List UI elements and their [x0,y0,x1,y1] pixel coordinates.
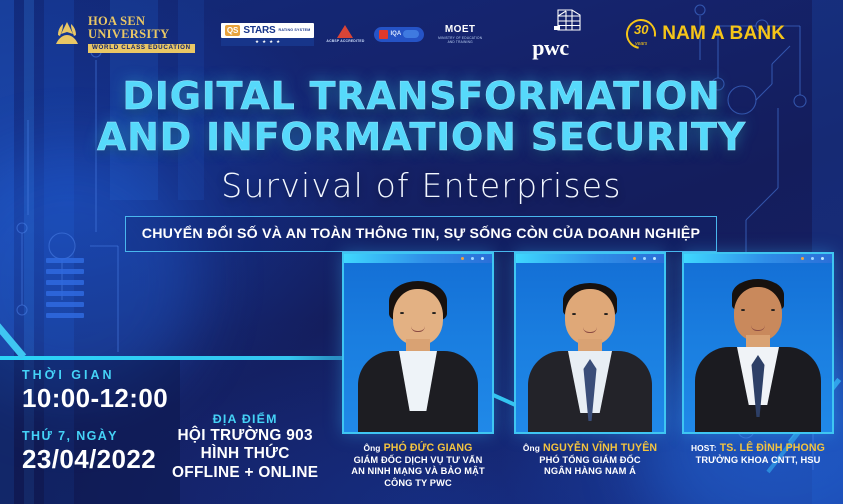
window-titlebar [516,254,664,263]
hsu-tagline: WORLD CLASS EDUCATION [88,44,195,53]
speaker-role-line: GIÁM ĐỐC DỊCH VỤ TƯ VẤN [338,455,498,466]
speaker-name-line: Ông NGUYỄN VĨNH TUYÊN [510,442,670,455]
moet-name: MOET [445,24,476,35]
headline-line-1: DIGITAL TRANSFORMATION [0,76,843,117]
speaker-caption: Ông PHÓ ĐỨC GIANG GIÁM ĐỐC DỊCH VỤ TƯ VẤ… [338,442,498,489]
logo-moet: MOET MINISTRY OF EDUCATION AND TRAINING [438,24,482,44]
speaker-portrait [684,263,832,432]
headline-line-2: AND INFORMATION SECURITY [0,117,843,158]
red-square-icon [379,30,388,39]
speaker-prefix: Ông [523,443,540,453]
speaker-name-line: Ông PHÓ ĐỨC GIANG [338,442,498,455]
window-titlebar [684,254,832,263]
speaker-name-line: HOST: TS. LÊ ĐÌNH PHONG [678,442,838,455]
window-dot-icon [481,257,484,260]
logo-acbsp: ACBSP ACCREDITED [326,25,364,43]
speaker-prefix: Ông [363,443,380,453]
speaker-name: NGUYỄN VĨNH TUYÊN [543,442,657,454]
speaker-role-line: CÔNG TY PWC [338,478,498,489]
speaker-portrait [516,263,664,432]
pwc-blocks-icon [546,9,582,36]
speaker-photo-frame [514,252,666,434]
qs-stars-row: ★ ★ ★ ★ [221,38,315,46]
anniversary-number: 30 [626,23,656,36]
star-icon: ★ [255,39,259,45]
qs-subtitle: RATING SYSTEM [279,28,311,32]
event-poster: HOA SEN UNIVERSITY WORLD CLASS EDUCATION… [0,0,843,504]
window-dot-icon [653,257,656,260]
window-dot-icon [633,257,636,260]
qs-badge: QS [225,25,241,36]
speaker-caption: Ông NGUYỄN VĨNH TUYÊN PHÓ TỔNG GIÁM ĐỐC … [510,442,670,478]
pwc-wordmark: pwc [532,37,568,59]
speaker-name: PHÓ ĐỨC GIANG [384,442,473,454]
logo-qs-stars: QS STARS RATING SYSTEM ★ ★ ★ ★ [221,23,315,46]
speaker-card: Ông NGUYỄN VĨNH TUYÊN PHÓ TỔNG GIÁM ĐỐC … [510,252,670,434]
time-value: 10:00-12:00 [22,384,168,413]
speaker-role-line: AN NINH MẠNG VÀ BẢO MẬT [338,466,498,477]
venue-block: ĐỊA ĐIỂM HỘI TRƯỜNG 903 HÌNH THỨC OFFLIN… [172,412,318,482]
pill-caption: IQA [390,31,401,37]
speaker-role-line: NGÂN HÀNG NAM Á [510,466,670,477]
triangle-icon [337,25,353,38]
logo-nam-a-bank: 30 years NAM A BANK [626,19,785,49]
logo-hoa-sen-university: HOA SEN UNIVERSITY WORLD CLASS EDUCATION [52,15,195,53]
time-label: THỜI GIAN [22,368,168,382]
speaker-card: HOST: TS. LÊ ĐÌNH PHONG TRƯỞNG KHOA CNTT… [678,252,838,434]
date-label: THỨ 7, NGÀY [22,429,168,443]
acbsp-caption: ACBSP ACCREDITED [326,39,364,43]
speaker-name: TS. LÊ ĐÌNH PHONG [720,442,825,454]
window-dot-icon [811,257,814,260]
window-dot-icon [471,257,474,260]
anniversary-unit: years [626,41,656,47]
window-titlebar [344,254,492,263]
date-value: 23/04/2022 [22,445,168,474]
anniversary-badge-icon: 30 years [626,19,656,49]
speaker-card: Ông PHÓ ĐỨC GIANG GIÁM ĐỐC DỊCH VỤ TƯ VẤ… [338,252,498,434]
nam-a-bank-wordmark: NAM A BANK [662,23,785,45]
window-dot-icon [821,257,824,260]
star-icon: ★ [262,39,266,45]
speaker-caption: HOST: TS. LÊ ĐÌNH PHONG TRƯỞNG KHOA CNTT… [678,442,838,466]
speaker-role-line: TRƯỞNG KHOA CNTT, HSU [678,455,838,466]
place-label: ĐỊA ĐIỂM [172,412,318,427]
schedule-block: THỜI GIAN 10:00-12:00 THỨ 7, NGÀY 23/04/… [22,368,168,473]
speaker-photo-frame [342,252,494,434]
blue-capsule-icon [403,30,419,38]
headline-script: Survival of Enterprises [0,166,843,205]
logo-pwc: pwc [532,9,582,59]
vietnamese-subtitle-box: CHUYỂN ĐỔI SỐ VÀ AN TOÀN THÔNG TIN, SỰ S… [125,216,717,252]
window-dot-icon [801,257,804,260]
vietnamese-subtitle-text: CHUYỂN ĐỔI SỐ VÀ AN TOÀN THÔNG TIN, SỰ S… [142,226,700,242]
place-value: HỘI TRƯỜNG 903 [172,427,318,445]
speaker-photo-frame [682,252,834,434]
window-dot-icon [643,257,646,260]
speaker-prefix: HOST: [691,443,717,453]
qs-name: STARS [243,25,275,36]
hsu-line1: HOA SEN [88,15,195,28]
star-icon: ★ [269,39,273,45]
speaker-portrait [344,263,492,432]
format-value: OFFLINE + ONLINE [172,464,318,482]
sponsor-logo-bar: HOA SEN UNIVERSITY WORLD CLASS EDUCATION… [0,10,843,58]
moet-sub2: AND TRAINING [448,40,473,44]
hsu-line2: UNIVERSITY [88,28,195,41]
speaker-role-line: PHÓ TỔNG GIÁM ĐỐC [510,455,670,466]
logo-accreditation-pill: IQA [374,27,424,42]
star-icon: ★ [276,39,280,45]
lotus-icon [52,19,82,49]
window-dot-icon [461,257,464,260]
format-label: HÌNH THỨC [172,445,318,463]
headline-block: DIGITAL TRANSFORMATION AND INFORMATION S… [0,76,843,205]
